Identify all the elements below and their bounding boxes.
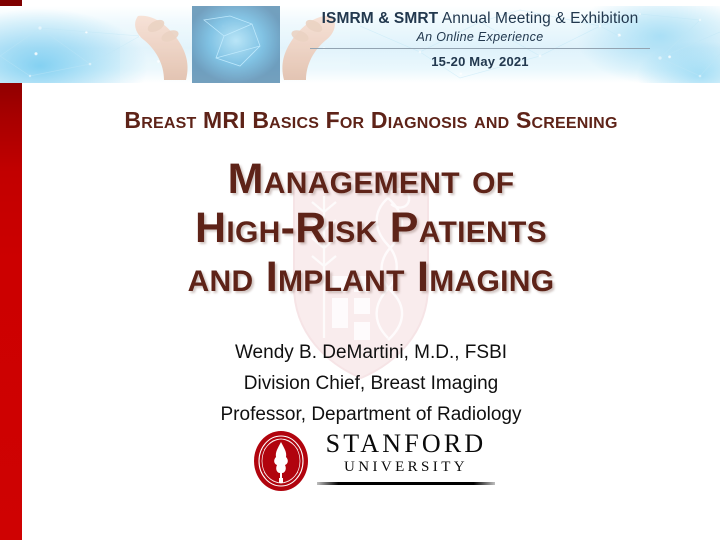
presenter-name: Wendy B. DeMartini, M.D., FSBI: [22, 338, 720, 369]
presenter-role: Division Chief, Breast Imaging: [22, 369, 720, 400]
stanford-logo: STANFORD UNIVERSITY: [248, 428, 498, 500]
title-line-1: Management of: [22, 155, 720, 204]
presenter-affiliation: Professor, Department of Radiology: [22, 400, 720, 431]
banner-org-bold: ISMRM & SMRT: [322, 10, 439, 27]
stanford-seal-icon: [252, 430, 310, 492]
session-title: Breast MRI Basics For Diagnosis and Scre…: [22, 107, 720, 134]
banner-dates: 15-20 May 2021: [300, 54, 660, 69]
title-line-3: and Implant Imaging: [22, 253, 720, 302]
conference-banner: ISMRM & SMRT Annual Meeting & Exhibition…: [0, 6, 720, 83]
banner-organization-line: ISMRM & SMRT Annual Meeting & Exhibition: [300, 10, 660, 28]
stanford-wordmark: STANFORD UNIVERSITY: [314, 430, 498, 485]
page-title: Management of High-Risk Patients and Imp…: [22, 155, 720, 302]
stanford-university-label: UNIVERSITY: [314, 458, 498, 476]
banner-text-block: ISMRM & SMRT Annual Meeting & Exhibition…: [300, 10, 660, 69]
banner-subtitle: An Online Experience: [300, 30, 660, 44]
stanford-name: STANFORD: [314, 430, 498, 457]
presentation-slide: ISMRM & SMRT Annual Meeting & Exhibition…: [0, 0, 720, 540]
presenter-block: Wendy B. DeMartini, M.D., FSBI Division …: [22, 338, 720, 430]
stanford-underline: [317, 482, 495, 485]
banner-divider: [310, 48, 650, 49]
title-line-2: High-Risk Patients: [22, 204, 720, 253]
banner-org-rest: Annual Meeting & Exhibition: [438, 10, 638, 27]
